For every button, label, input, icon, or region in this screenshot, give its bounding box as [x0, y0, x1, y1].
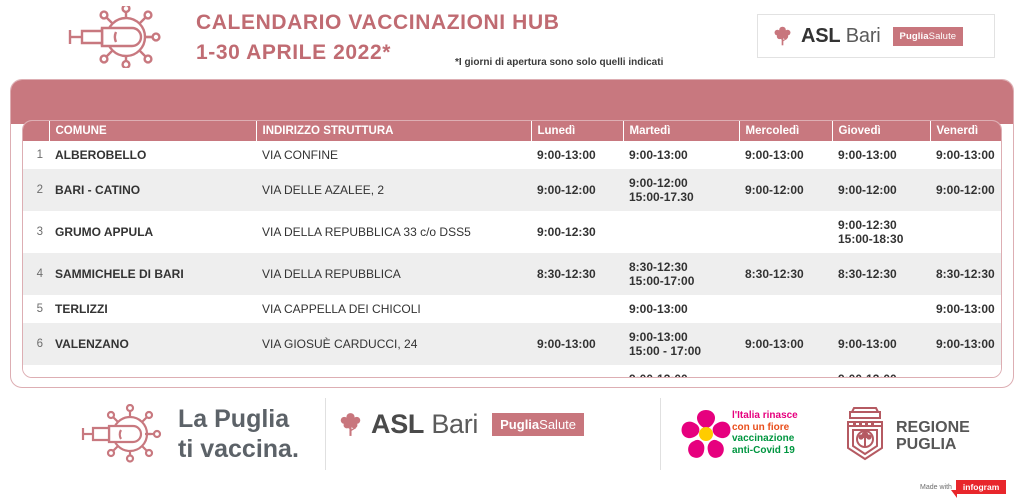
cell-n: 1: [23, 141, 49, 169]
cell-indirizzo: VIA DELLA REPUBBLICA: [256, 253, 531, 295]
cell-lunedi: 9:00-12:00: [531, 169, 623, 211]
cell-venerdi: 9:00-13:00: [930, 141, 1002, 169]
col-header-giovedi: Giovedì: [832, 121, 930, 141]
table-body: 1ALBEROBELLOVIA CONFINE9:00-13:009:00-13…: [23, 141, 1002, 378]
ps-light-footer: Salute: [539, 417, 576, 432]
calendar-table-wrapper: COMUNE INDIRIZZO STRUTTURA Lunedì Marted…: [22, 120, 1002, 378]
flower-icon: [678, 406, 734, 460]
cell-comune: TERLIZZI: [49, 295, 256, 323]
table-row: 5TERLIZZIVIA CAPPELLA DEI CHICOLI9:00-13…: [23, 295, 1002, 323]
col-header-index: [23, 121, 49, 141]
cell-martedi: 9:00-13:0014.30 - 18.30: [623, 365, 739, 378]
fiore-line-1: l'Italia rinasce: [732, 410, 798, 422]
col-header-venerdi: Venerdì: [930, 121, 1002, 141]
page-footer: La Puglia ti vaccina. ASL Bari PugliaSal…: [0, 392, 1024, 503]
cell-lunedi: 9:00-13:00: [531, 323, 623, 365]
asl-logo-text-footer: ASL Bari: [371, 409, 478, 440]
table-row: 7BARI - FIERA DEL LEVANTELUNGOMARE STARI…: [23, 365, 1002, 378]
cell-venerdi: 9:00-13:00: [930, 295, 1002, 323]
cell-venerdi: 9:00-12:00: [930, 169, 1002, 211]
cell-giovedi: 9:00-13:00: [832, 323, 930, 365]
cell-martedi: 9:00-13:00: [623, 141, 739, 169]
asl-bari-logo: ASL Bari PugliaSalute: [757, 14, 995, 58]
asl-light: Bari: [846, 25, 881, 47]
cell-comune: VALENZANO: [49, 323, 256, 365]
cell-mercoledi: 9:00-13:00: [739, 365, 832, 378]
la-puglia-ti-vaccina-text: La Puglia ti vaccina.: [178, 404, 299, 464]
cell-martedi: 9:00-12:0015:00-17.30: [623, 169, 739, 211]
cell-comune: BARI - FIERA DEL LEVANTE: [49, 365, 256, 378]
cell-comune: GRUMO APPULA: [49, 211, 256, 253]
asl-bari-logo-footer: ASL Bari PugliaSalute: [338, 409, 584, 440]
opening-days-note: *I giorni di apertura sono solo quelli i…: [455, 57, 663, 68]
col-header-comune: COMUNE: [49, 121, 256, 141]
cell-martedi: 9:00-13:0015:00 - 17:00: [623, 323, 739, 365]
lp-line-2: ti vaccina.: [178, 434, 299, 464]
page-header: CALENDARIO VACCINAZIONI HUB 1-30 APRILE …: [0, 0, 1024, 72]
footer-divider-left: [325, 398, 326, 470]
lp-line-1: La Puglia: [178, 404, 299, 434]
olive-tree-icon: [772, 25, 793, 47]
olive-tree-icon: [338, 411, 363, 438]
cell-lunedi: [531, 295, 623, 323]
cell-giovedi: [832, 295, 930, 323]
pink-banner-bar: [11, 80, 1013, 124]
cell-indirizzo: LUNGOMARE STARITA, 4: [256, 365, 531, 378]
made-with-label: Made with: [920, 484, 952, 491]
cell-n: 6: [23, 323, 49, 365]
puglia-salute-bold: Puglia: [900, 31, 929, 42]
cell-comune: ALBEROBELLO: [49, 141, 256, 169]
calendar-table: COMUNE INDIRIZZO STRUTTURA Lunedì Marted…: [23, 121, 1002, 378]
cell-indirizzo: VIA CAPPELLA DEI CHICOLI: [256, 295, 531, 323]
asl-logo-text: ASL Bari: [801, 25, 881, 48]
table-row: 1ALBEROBELLOVIA CONFINE9:00-13:009:00-13…: [23, 141, 1002, 169]
cell-giovedi: 9:00-13:0014.30 - 18.30: [832, 365, 930, 378]
cell-indirizzo: VIA DELLE AZALEE, 2: [256, 169, 531, 211]
ps-bold-footer: Puglia: [500, 417, 539, 432]
infogram-badge[interactable]: infogram: [956, 480, 1006, 494]
cell-martedi: 8:30-12:3015:00-17:00: [623, 253, 739, 295]
table-row: 2BARI - CATINOVIA DELLE AZALEE, 29:00-12…: [23, 169, 1002, 211]
vaccination-calendar-page: CALENDARIO VACCINAZIONI HUB 1-30 APRILE …: [0, 0, 1024, 503]
cell-lunedi: 9:00-12:30: [531, 211, 623, 253]
cell-martedi: 9:00-13:00: [623, 295, 739, 323]
puglia-salute-badge: PugliaSalute: [893, 27, 964, 46]
cell-n: 5: [23, 295, 49, 323]
puglia-salute-badge-footer: PugliaSalute: [492, 413, 584, 436]
cell-lunedi: 9:00-13:00: [531, 365, 623, 378]
fiore-line-3: vaccinazione: [732, 433, 798, 445]
cell-giovedi: 9:00-12:00: [832, 169, 930, 211]
cell-giovedi: 9:00-13:00: [832, 141, 930, 169]
title-line-1: CALENDARIO VACCINAZIONI HUB: [196, 10, 559, 36]
cell-martedi: [623, 211, 739, 253]
cell-n: 3: [23, 211, 49, 253]
col-header-martedi: Martedì: [623, 121, 739, 141]
fiore-line-4: anti-Covid 19: [732, 445, 798, 457]
cell-venerdi: 9:00-13:00: [930, 323, 1002, 365]
regione-line-1: REGIONE: [896, 419, 970, 436]
col-header-indirizzo: INDIRIZZO STRUTTURA: [256, 121, 531, 141]
col-header-lunedi: Lunedì: [531, 121, 623, 141]
regione-puglia-crest-icon: [840, 404, 890, 464]
cell-giovedi: 9:00-12:3015:00-18:30: [832, 211, 930, 253]
cell-mercoledi: 8:30-12:30: [739, 253, 832, 295]
cell-lunedi: 9:00-13:00: [531, 141, 623, 169]
cell-giovedi: 8:30-12:30: [832, 253, 930, 295]
syringe-virus-icon: [58, 6, 176, 68]
cell-mercoledi: 9:00-13:00: [739, 323, 832, 365]
regione-line-2: PUGLIA: [896, 436, 970, 453]
cell-n: 7: [23, 365, 49, 378]
asl-bold: ASL: [801, 25, 840, 47]
cell-venerdi: [930, 211, 1002, 253]
footer-divider-right: [660, 398, 661, 470]
cell-indirizzo: VIA CONFINE: [256, 141, 531, 169]
cell-venerdi: 9:00-13:00: [930, 365, 1002, 378]
asl-bold-footer: ASL: [371, 409, 424, 439]
puglia-salute-light: Salute: [929, 31, 957, 42]
cell-venerdi: 8:30-12:30: [930, 253, 1002, 295]
syringe-virus-icon: [75, 404, 170, 464]
cell-comune: SAMMICHELE DI BARI: [49, 253, 256, 295]
table-row: 6VALENZANOVIA GIOSUÈ CARDUCCI, 249:00-13…: [23, 323, 1002, 365]
col-header-mercoledi: Mercoledì: [739, 121, 832, 141]
table-head: COMUNE INDIRIZZO STRUTTURA Lunedì Marted…: [23, 121, 1002, 141]
italia-rinasce-text: l'Italia rinasce con un fiore vaccinazio…: [732, 410, 798, 456]
cell-indirizzo: VIA GIOSUÈ CARDUCCI, 24: [256, 323, 531, 365]
cell-mercoledi: [739, 211, 832, 253]
cell-comune: BARI - CATINO: [49, 169, 256, 211]
cell-n: 4: [23, 253, 49, 295]
cell-mercoledi: 9:00-12:00: [739, 169, 832, 211]
regione-puglia-text: REGIONE PUGLIA: [896, 419, 970, 453]
fiore-line-2: con un fiore: [732, 422, 798, 434]
table-row: 4SAMMICHELE DI BARIVIA DELLA REPUBBLICA8…: [23, 253, 1002, 295]
made-with-infogram[interactable]: Made with infogram: [920, 480, 1006, 494]
cell-indirizzo: VIA DELLA REPUBBLICA 33 c/o DSS5: [256, 211, 531, 253]
cell-n: 2: [23, 169, 49, 211]
cell-lunedi: 8:30-12:30: [531, 253, 623, 295]
cell-mercoledi: [739, 295, 832, 323]
asl-light-footer: Bari: [431, 409, 478, 439]
cell-mercoledi: 9:00-13:00: [739, 141, 832, 169]
table-row: 3GRUMO APPULAVIA DELLA REPUBBLICA 33 c/o…: [23, 211, 1002, 253]
header-row: COMUNE INDIRIZZO STRUTTURA Lunedì Marted…: [23, 121, 1002, 141]
